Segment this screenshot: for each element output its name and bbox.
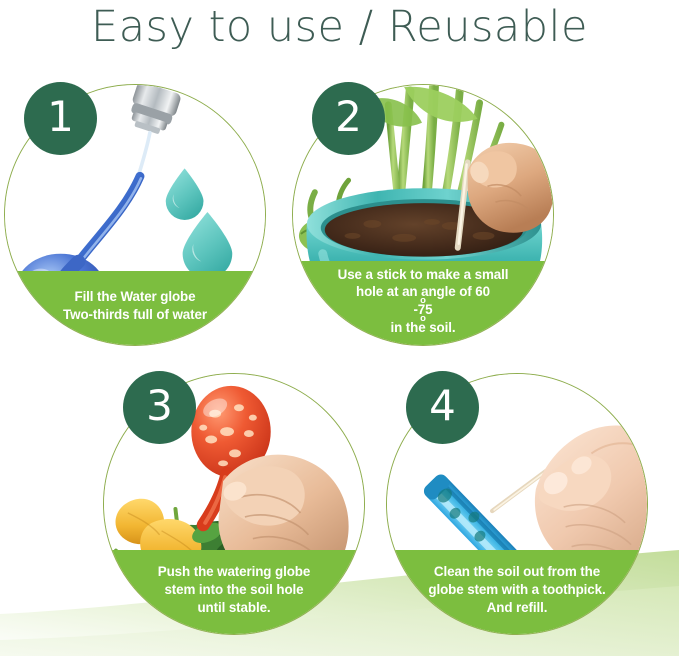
step-4-caption-line-3: And refill.	[428, 599, 605, 617]
step-3-caption-line-1: Push the watering globe	[158, 563, 310, 581]
step-badge-2: 2	[312, 82, 385, 155]
page-title: Easy to use / Reusable	[0, 2, 679, 52]
step-badge-1: 1	[24, 82, 97, 155]
step-card-2[interactable]: Use a stick to make a small hole at an a…	[292, 84, 554, 346]
step-4-caption-line-1: Clean the soil out from the	[428, 563, 605, 581]
step-3-caption-line-3: until stable.	[158, 599, 310, 617]
step-2-caption-line-2: hole at an angle of 60o-75o	[338, 283, 509, 318]
step-2-caption: Use a stick to make a small hole at an a…	[293, 261, 553, 345]
step-card-4[interactable]: Clean the soil out from the globe stem w…	[386, 373, 648, 635]
step-3-caption-line-2: stem into the soil hole	[158, 581, 310, 599]
step-4-caption: Clean the soil out from the globe stem w…	[387, 550, 647, 634]
step-1-caption-line-2: Two-thirds full of water	[63, 306, 207, 324]
step-badge-3: 3	[123, 371, 196, 444]
step-2-caption-line-3: in the soil.	[338, 319, 509, 337]
step-1-caption: Fill the Water globe Two-thirds full of …	[5, 271, 265, 345]
step-1-caption-line-1: Fill the Water globe	[63, 288, 207, 306]
infographic-page: Easy to use / Reusable	[0, 0, 679, 656]
step-2-caption-line-1: Use a stick to make a small	[338, 266, 509, 284]
steps-grid: Fill the Water globe Two-thirds full of …	[0, 0, 679, 656]
step-badge-4: 4	[406, 371, 479, 444]
step-card-1[interactable]: Fill the Water globe Two-thirds full of …	[4, 84, 266, 346]
step-3-caption: Push the watering globe stem into the so…	[104, 550, 364, 634]
step-card-3[interactable]: Push the watering globe stem into the so…	[103, 373, 365, 635]
step-4-caption-line-2: globe stem with a toothpick.	[428, 581, 605, 599]
